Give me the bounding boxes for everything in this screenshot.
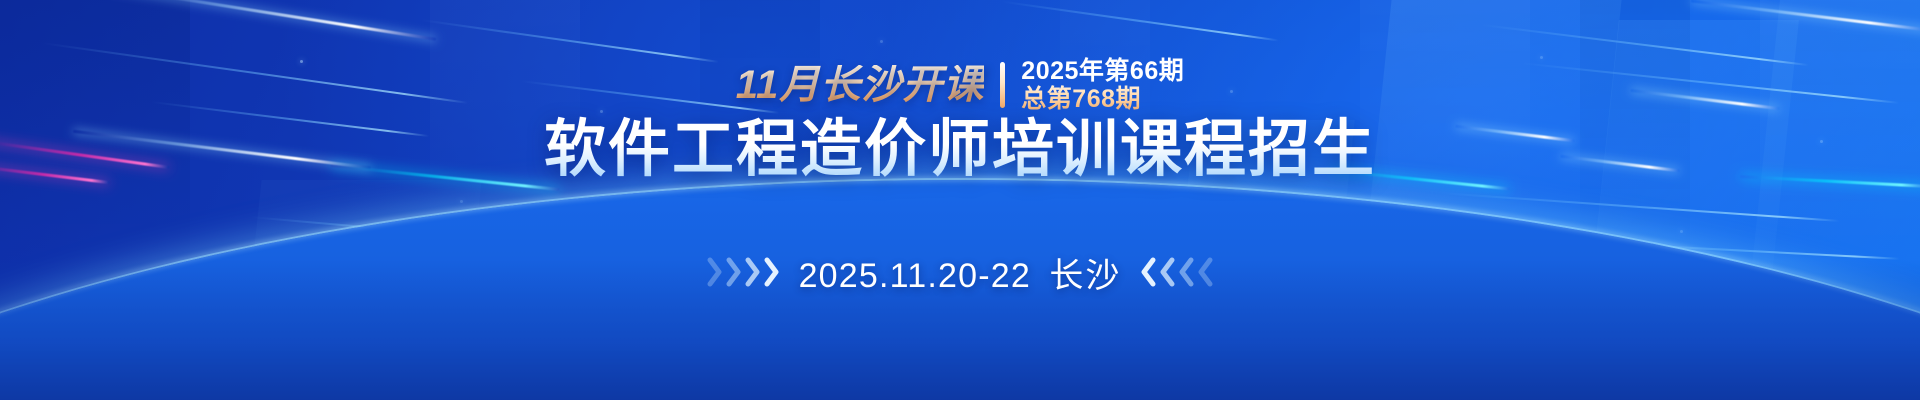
chevron-left-icon [1177, 257, 1194, 287]
chevron-left-icon [1196, 257, 1213, 287]
banner-content: 11月长沙开课 2025年第66期 总第768期 软件工程造价师培训课程招生 [0, 0, 1920, 400]
date-text: 2025.11.20-22 [799, 257, 1031, 295]
course-promo-banner: 11月长沙开课 2025年第66期 总第768期 软件工程造价师培训课程招生 [0, 0, 1920, 400]
chevron-right-group [707, 257, 781, 287]
issue-primary-label: 2025年第66期 [1021, 57, 1184, 85]
issue-secondary-label: 总第768期 [1021, 85, 1184, 113]
chevron-left-icon [1158, 257, 1175, 287]
date-location-row: 2025.11.20-22 长沙 [707, 248, 1214, 297]
date-location-text: 2025.11.20-22 长沙 [799, 248, 1122, 297]
kicker-text: 11月长沙开课 [736, 65, 985, 105]
city-text: 长沙 [1049, 257, 1121, 295]
vertical-divider [1000, 62, 1005, 108]
page-title: 软件工程造价师培训课程招生 [544, 116, 1376, 184]
chevron-left-group [1139, 257, 1213, 287]
chevron-left-icon [1139, 257, 1156, 287]
chevron-right-icon [764, 257, 781, 287]
eyebrow-row: 11月长沙开课 2025年第66期 总第768期 [736, 56, 1184, 114]
chevron-right-icon [745, 257, 762, 287]
chevron-right-icon [726, 257, 743, 287]
chevron-right-icon [707, 257, 724, 287]
issue-block: 2025年第66期 总第768期 [1021, 57, 1184, 113]
